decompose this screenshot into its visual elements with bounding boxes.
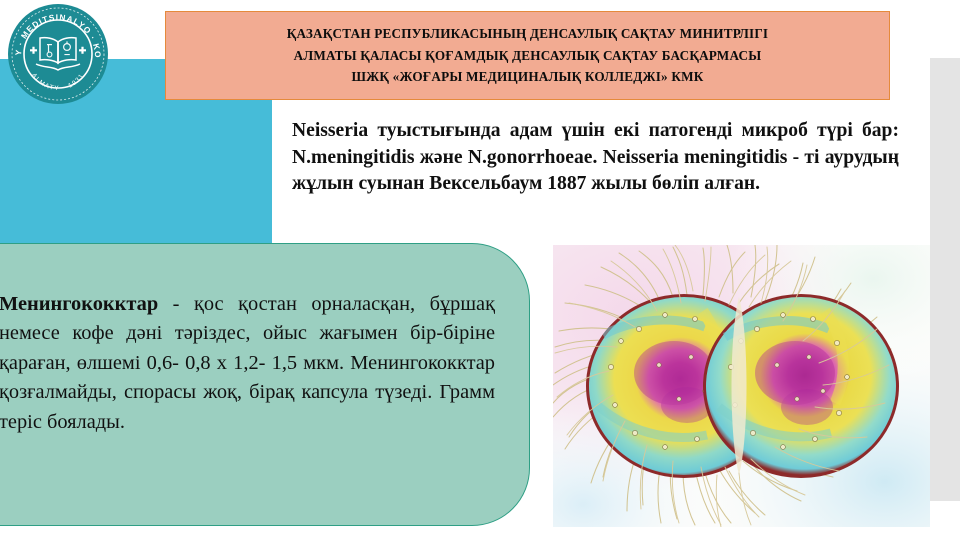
slide-canvas: JOĞARY · MEDITSINALYQ · KOLLEDJ ALMATY ·… (0, 0, 960, 540)
institution-header-banner: ҚАЗАҚСТАН РЕСПУБЛИКАСЫНЫҢ ДЕНСАУЛЫҚ САҚТ… (165, 11, 890, 100)
college-logo: JOĞARY · MEDITSINALYQ · KOLLEDJ ALMATY ·… (6, 2, 110, 106)
banner-line-1: ҚАЗАҚСТАН РЕСПУБЛИКАСЫНЫҢ ДЕНСАУЛЫҚ САҚТ… (287, 23, 769, 44)
intro-paragraph: Neisseria туыстығында адам үшін екі пато… (292, 118, 899, 198)
definition-text: Менингококктар - қос қостан орналасқан, … (0, 290, 495, 437)
diplococci-micrograph (553, 245, 930, 527)
definition-lead-term: Менингококктар (0, 293, 158, 315)
gray-side-strip (930, 58, 960, 501)
intro-paragraph-text: Neisseria туыстығында адам үшін екі пато… (292, 120, 899, 194)
definition-panel: Менингококктар - қос қостан орналасқан, … (0, 243, 530, 526)
banner-line-3: ШЖҚ «ЖОҒАРЫ МЕДИЦИНАЛЫҚ КОЛЛЕДЖІ» КМК (351, 66, 703, 87)
banner-line-2: АЛМАТЫ ҚАЛАСЫ ҚОҒАМДЫҚ ДЕНСАУЛЫҚ САҚТАУ … (294, 45, 762, 66)
